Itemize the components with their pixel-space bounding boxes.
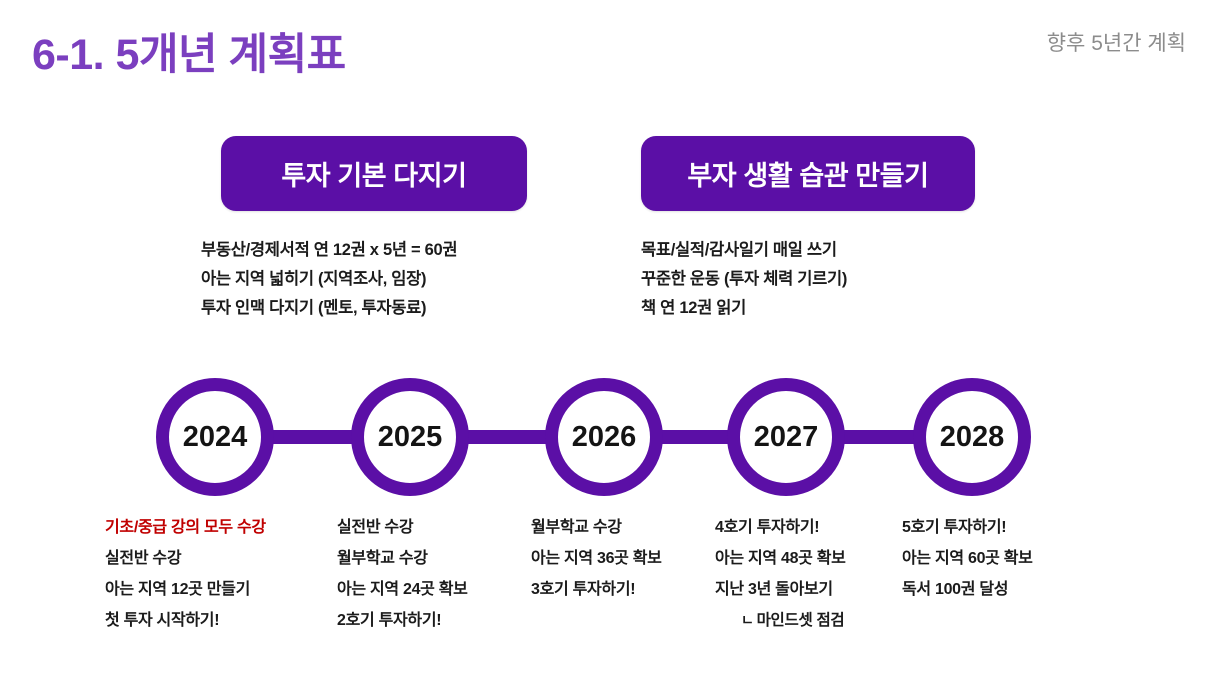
slide-subtitle: 향후 5년간 계획 xyxy=(1047,27,1186,57)
goal-pill-label: 투자 기본 다지기 xyxy=(281,154,466,193)
year-detail-2028: 5호기 투자하기!아는 지역 60곳 확보독서 100권 달성 xyxy=(902,512,1033,605)
year-detail-line: 4호기 투자하기! xyxy=(715,512,846,543)
year-detail-2024: 기초/중급 강의 모두 수강실전반 수강아는 지역 12곳 만들기첫 투자 시작… xyxy=(105,512,266,636)
year-detail-line: 아는 지역 48곳 확보 xyxy=(715,543,846,574)
year-detail-2025: 실전반 수강월부학교 수강아는 지역 24곳 확보2호기 투자하기! xyxy=(337,512,468,636)
goal-bullet-block-0: 부동산/경제서적 연 12권 x 5년 = 60권아는 지역 넓히기 (지역조사… xyxy=(201,236,457,323)
year-detail-line: 5호기 투자하기! xyxy=(902,512,1033,543)
goal-bullet-line: 목표/실적/감사일기 매일 쓰기 xyxy=(641,236,847,265)
goal-bullet-line: 꾸준한 운동 (투자 체력 기르기) xyxy=(641,265,847,294)
timeline-year-label: 2026 xyxy=(572,421,637,454)
year-detail-line: 월부학교 수강 xyxy=(337,543,468,574)
year-detail-line: 실전반 수강 xyxy=(337,512,468,543)
year-detail-line: 3호기 투자하기! xyxy=(531,574,662,605)
timeline-node-2027[interactable]: 2027 xyxy=(727,378,845,496)
timeline-year-label: 2024 xyxy=(183,421,248,454)
year-detail-line: 실전반 수강 xyxy=(105,543,266,574)
timeline-node-2026[interactable]: 2026 xyxy=(545,378,663,496)
timeline-connector xyxy=(839,430,919,444)
year-detail-line-text: 마인드셋 점검 xyxy=(757,612,845,629)
year-detail-line: ㄴ마인드셋 점검 xyxy=(715,605,846,636)
timeline-connector xyxy=(268,430,357,444)
year-detail-2027: 4호기 투자하기!아는 지역 48곳 확보지난 3년 돌아보기ㄴ마인드셋 점검 xyxy=(715,512,846,636)
year-detail-line: 아는 지역 60곳 확보 xyxy=(902,543,1033,574)
year-detail-line: 월부학교 수강 xyxy=(531,512,662,543)
timeline-year-label: 2028 xyxy=(940,421,1005,454)
goal-bullet-line: 투자 인맥 다지기 (멘토, 투자동료) xyxy=(201,294,457,323)
timeline-node-2025[interactable]: 2025 xyxy=(351,378,469,496)
timeline: 20242025202620272028 xyxy=(0,378,1216,498)
goal-pill-1[interactable]: 부자 생활 습관 만들기 xyxy=(641,136,975,211)
year-detail-line: 아는 지역 36곳 확보 xyxy=(531,543,662,574)
year-detail-line: 지난 3년 돌아보기 xyxy=(715,574,846,605)
sub-branch-marker-icon: ㄴ xyxy=(741,605,754,636)
year-detail-2026: 월부학교 수강아는 지역 36곳 확보3호기 투자하기! xyxy=(531,512,662,605)
page-title: 6-1. 5개년 계획표 xyxy=(32,20,346,82)
timeline-connector xyxy=(463,430,551,444)
goal-bullet-line: 부동산/경제서적 연 12권 x 5년 = 60권 xyxy=(201,236,457,265)
timeline-connector xyxy=(657,430,733,444)
year-detail-line: 기초/중급 강의 모두 수강 xyxy=(105,512,266,543)
slide-canvas: 6-1. 5개년 계획표 향후 5년간 계획 투자 기본 다지기부동산/경제서적… xyxy=(0,0,1216,684)
goal-pill-0[interactable]: 투자 기본 다지기 xyxy=(221,136,527,211)
timeline-year-label: 2027 xyxy=(754,421,819,454)
year-detail-line: 독서 100권 달성 xyxy=(902,574,1033,605)
timeline-node-2028[interactable]: 2028 xyxy=(913,378,1031,496)
goal-bullet-block-1: 목표/실적/감사일기 매일 쓰기꾸준한 운동 (투자 체력 기르기)책 연 12… xyxy=(641,236,847,323)
timeline-year-label: 2025 xyxy=(378,421,443,454)
goal-pill-label: 부자 생활 습관 만들기 xyxy=(687,154,928,193)
goal-bullet-line: 책 연 12권 읽기 xyxy=(641,294,847,323)
timeline-node-2024[interactable]: 2024 xyxy=(156,378,274,496)
year-detail-line: 첫 투자 시작하기! xyxy=(105,605,266,636)
year-detail-line: 아는 지역 12곳 만들기 xyxy=(105,574,266,605)
year-detail-line: 2호기 투자하기! xyxy=(337,605,468,636)
year-detail-line: 아는 지역 24곳 확보 xyxy=(337,574,468,605)
goal-bullet-line: 아는 지역 넓히기 (지역조사, 임장) xyxy=(201,265,457,294)
